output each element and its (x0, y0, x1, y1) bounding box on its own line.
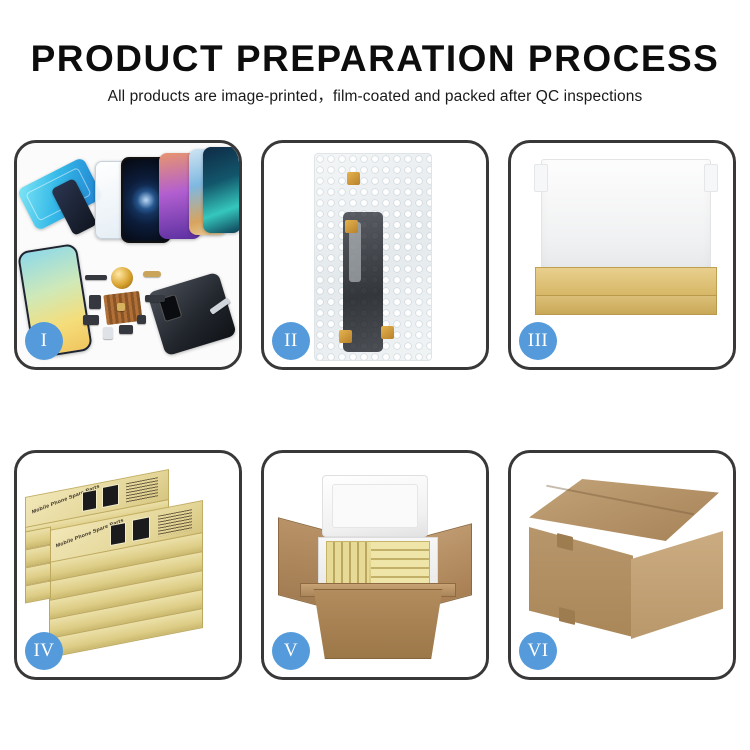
step-badge-2: II (272, 322, 310, 360)
process-step-grid: I II III (14, 140, 736, 680)
spare-part-connector (85, 275, 107, 280)
spare-part-speaker (119, 325, 133, 334)
tape-tab-bottom-right (381, 326, 394, 339)
sealed-carton-side-face (631, 531, 723, 639)
tape-tab-bottom-left (339, 330, 352, 343)
process-step-panel-4: Mobile Phone Spare Parts Mobile Phone Sp… (14, 450, 242, 680)
spare-part-screw-plate (137, 315, 146, 324)
step-badge-4: IV (25, 632, 63, 670)
process-step-panel-6: VI (508, 450, 736, 680)
spare-part-bracket (83, 315, 99, 325)
step-badge-6: VI (519, 632, 557, 670)
sealed-carton-front-face (529, 527, 633, 637)
retail-boxes-inside-carton (326, 541, 430, 585)
step-badge-1: I (25, 322, 63, 360)
process-step-panel-3: III (508, 140, 736, 370)
process-step-panel-2: II (261, 140, 489, 370)
spare-part-sim-tray (103, 327, 113, 339)
kraft-tray-front (535, 295, 717, 315)
bubble-wrap-bag (314, 153, 432, 361)
spare-part-gold-strip (143, 271, 161, 277)
step-badge-5: V (272, 632, 310, 670)
carton-tape-tab-lower (559, 607, 575, 625)
retail-box-window-2b (132, 516, 150, 541)
phone-back-housing (147, 272, 237, 357)
carton-front-face (308, 589, 448, 659)
gold-camera-lens-part (111, 267, 133, 289)
product-preparation-infographic: PRODUCT PREPARATION PROCESS All products… (0, 0, 750, 750)
retail-box-left-edge-4 (25, 580, 51, 603)
header: PRODUCT PREPARATION PROCESS All products… (0, 0, 750, 107)
spare-part-flex-cable (145, 295, 165, 302)
spare-part-camera (89, 295, 101, 309)
tape-tab-top (347, 172, 360, 185)
spare-part-gold-chip (117, 303, 125, 311)
process-step-panel-1: I (14, 140, 242, 370)
tape-tab-middle (345, 220, 358, 233)
retail-box-window-1a (82, 489, 97, 512)
foam-box-lid (322, 475, 428, 537)
retail-box-window-1b (102, 484, 119, 508)
retail-box-specs-2 (158, 509, 192, 537)
white-box-lid (541, 159, 711, 277)
page-title: PRODUCT PREPARATION PROCESS (0, 38, 750, 80)
process-step-panel-5: V (261, 450, 489, 680)
step-badge-3: III (519, 322, 557, 360)
phone-teal-wave (203, 147, 239, 233)
retail-box-specs-1 (126, 477, 158, 503)
page-subtitle: All products are image-printed，film-coat… (0, 87, 750, 107)
retail-box-window-2a (110, 522, 126, 546)
